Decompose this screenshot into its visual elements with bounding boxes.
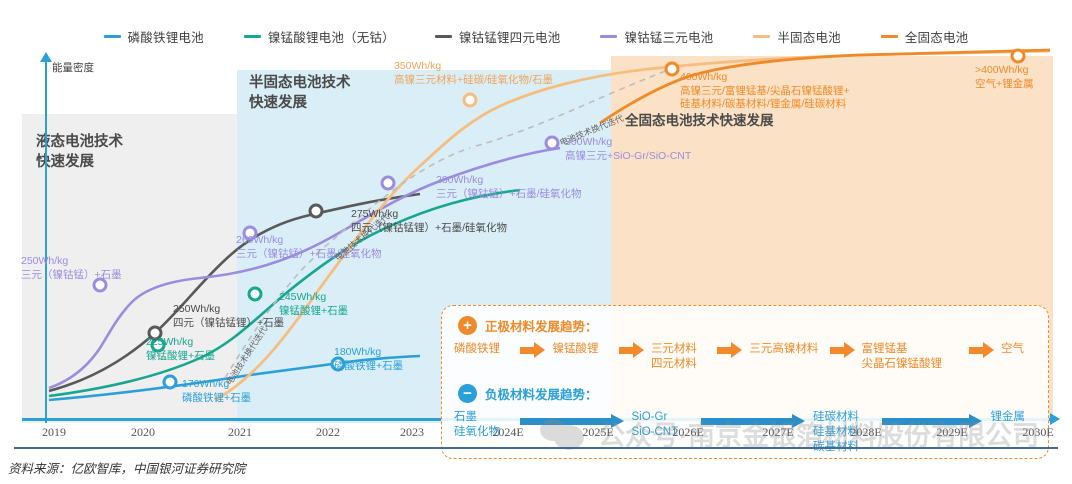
point-ncm-280[interactable]	[381, 176, 396, 191]
legend-label-allsolid: 全固态电池	[905, 27, 969, 46]
minus-icon: −	[458, 384, 477, 403]
negative-node-3: 锂金属	[990, 410, 1040, 425]
chain-arrow-icon	[520, 342, 546, 358]
xtick-2029E: 2029E	[936, 425, 967, 440]
positive-trend-header: + 正极材料发展趋势：	[458, 316, 598, 335]
value-label-allsolid-400: 400Wh/kg 高镍三元/富锂锰基/尖晶石镍锰酸锂+ 硅基材料/碳基材料/锂金…	[680, 71, 849, 112]
value-label-allsolid-400plus: >400Wh/kg 空气+锂金属	[975, 64, 1034, 91]
positive-material-chain: 磷酸铁锂 镍锰酸锂 三元材料 四元材料 三元高镍材料 富锂锰基 尖晶石镍锰酸锂 …	[454, 342, 1040, 372]
plot-area: 液态电池技术 快速发展 半固态电池技术 快速发展 全固态电池技术快速发展 能量密…	[0, 48, 1072, 423]
positive-node-3: 三元高镍材料	[749, 342, 823, 357]
legend-label-quaternary: 镍钴锰锂四元电池	[459, 27, 561, 46]
value-label-lfp-180: 180Wh/kg 磷酸铁锂+石墨	[334, 346, 403, 373]
value-label-ncm-250: 250Wh/kg 三元（镍钴锰）+石墨	[21, 255, 122, 282]
value-label-semisolid-350: 350Wh/kg 高镍三元材料+硅碳/硅氧化物/石墨	[394, 60, 553, 87]
chain-arrow-icon	[830, 342, 856, 358]
xtick-2028E: 2028E	[850, 425, 881, 440]
value-label-ncm-280: 280Wh/kg 三元（镍钴锰）+石墨/硅氧化物	[436, 174, 582, 201]
negative-trend-header: − 负极材料发展趋势：	[458, 384, 598, 403]
legend-item-semisolid[interactable]: 半固态电池	[753, 27, 841, 46]
legend-swatch-lnmo	[244, 35, 261, 38]
value-label-lfp-170: 170Wh/kg 磷酸铁锂+石墨	[182, 378, 251, 405]
footer-divider	[14, 447, 1058, 449]
positive-node-5: 空气	[1001, 342, 1040, 357]
chain-arrow-icon	[969, 342, 995, 358]
xtick-2022: 2022	[316, 425, 340, 440]
point-lnmo-245[interactable]	[248, 287, 263, 302]
legend-label-lnmo: 镍锰酸锂电池（无钴）	[268, 27, 395, 46]
legend-item-allsolid[interactable]: 全固态电池	[881, 27, 969, 46]
legend-item-ncm[interactable]: 镍钴锰三元电池	[600, 27, 713, 46]
legend-swatch-semisolid	[753, 35, 770, 38]
legend-swatch-ncm	[600, 35, 617, 38]
xtick-2019: 2019	[42, 425, 66, 440]
plus-icon: +	[458, 316, 477, 335]
point-lfp-170[interactable]	[163, 375, 178, 390]
legend-label-lfp: 磷酸铁锂电池	[128, 27, 204, 46]
source-note: 资料来源：亿欧智库，中国银河证券研究院	[8, 458, 246, 477]
positive-node-1: 镍锰酸锂	[552, 342, 612, 357]
chart-legend: 磷酸铁锂电池 镍锰酸锂电池（无钴） 镍钴锰锂四元电池 镍钴锰三元电池 半固态电池…	[0, 24, 1072, 48]
xtick-2023: 2023	[400, 425, 424, 440]
legend-swatch-lfp	[104, 35, 121, 38]
positive-node-4: 富锂锰基 尖晶石镍锰酸锂	[862, 342, 963, 372]
positive-node-0: 磷酸铁锂	[454, 342, 514, 357]
positive-trend-title: 正极材料发展趋势：	[485, 316, 598, 335]
negative-trend-title: 负极材料发展趋势：	[485, 384, 598, 403]
legend-swatch-allsolid	[881, 35, 898, 38]
point-semisolid-350[interactable]	[463, 93, 478, 108]
chain-arrow-icon	[717, 342, 743, 358]
value-label-lnmo-245: 245Wh/kg 镍锰酸锂+石墨	[279, 291, 348, 318]
point-allsolid-400[interactable]	[665, 62, 680, 77]
xtick-2026E: 2026E	[672, 425, 703, 440]
point-quaternary-275[interactable]	[309, 204, 324, 219]
legend-label-ncm: 镍钴锰三元电池	[624, 27, 713, 46]
positive-node-2: 三元材料 四元材料	[651, 342, 711, 372]
xtick-2020: 2020	[131, 425, 155, 440]
xtick-2024E: 2024E	[492, 425, 523, 440]
chart-root: 磷酸铁锂电池 镍锰酸锂电池（无钴） 镍钴锰锂四元电池 镍钴锰三元电池 半固态电池…	[0, 0, 1072, 484]
xtick-2027E: 2027E	[762, 425, 793, 440]
value-label-ncm-300: 300Wh/kg 高镍三元+SiO-Gr/SiO-CNT	[565, 136, 691, 163]
xtick-2025E: 2025E	[582, 425, 613, 440]
xtick-2021: 2021	[228, 425, 252, 440]
legend-label-semisolid: 半固态电池	[777, 27, 841, 46]
legend-item-quaternary[interactable]: 镍钴锰锂四元电池	[435, 27, 561, 46]
value-label-quaternary-250: 250Wh/kg 四元（镍钴锰锂）+石墨	[173, 303, 284, 330]
legend-swatch-quaternary	[435, 35, 452, 38]
point-allsolid-400plus[interactable]	[1011, 49, 1026, 64]
legend-item-lnmo[interactable]: 镍锰酸锂电池（无钴）	[244, 27, 395, 46]
x-axis-ticks: 2019 2020 2021 2022 2023 2024E 2025E 202…	[0, 425, 1072, 443]
chain-arrow-icon	[619, 342, 645, 358]
xtick-2030E: 2030E	[1022, 425, 1053, 440]
legend-item-lfp[interactable]: 磷酸铁锂电池	[104, 27, 204, 46]
value-label-lnmo-225: 225Wh/kg 镍锰酸锂+石墨	[146, 336, 215, 363]
